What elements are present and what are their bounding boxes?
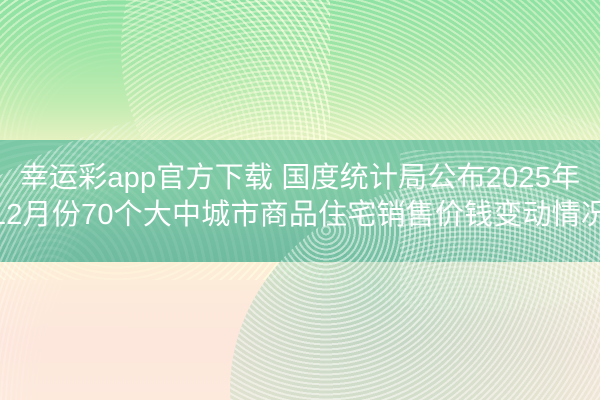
headline-line-2: 12月份70个大中城市商品住宅销售价钱变动情况	[0, 197, 600, 234]
headline-line-1: 幸运彩app官方下载 国度统计局公布2025年	[20, 160, 581, 197]
promo-banner: 幸运彩app官方下载 国度统计局公布2025年 12月份70个大中城市商品住宅销…	[0, 0, 600, 400]
headline-block: 幸运彩app官方下载 国度统计局公布2025年 12月份70个大中城市商品住宅销…	[0, 140, 600, 262]
